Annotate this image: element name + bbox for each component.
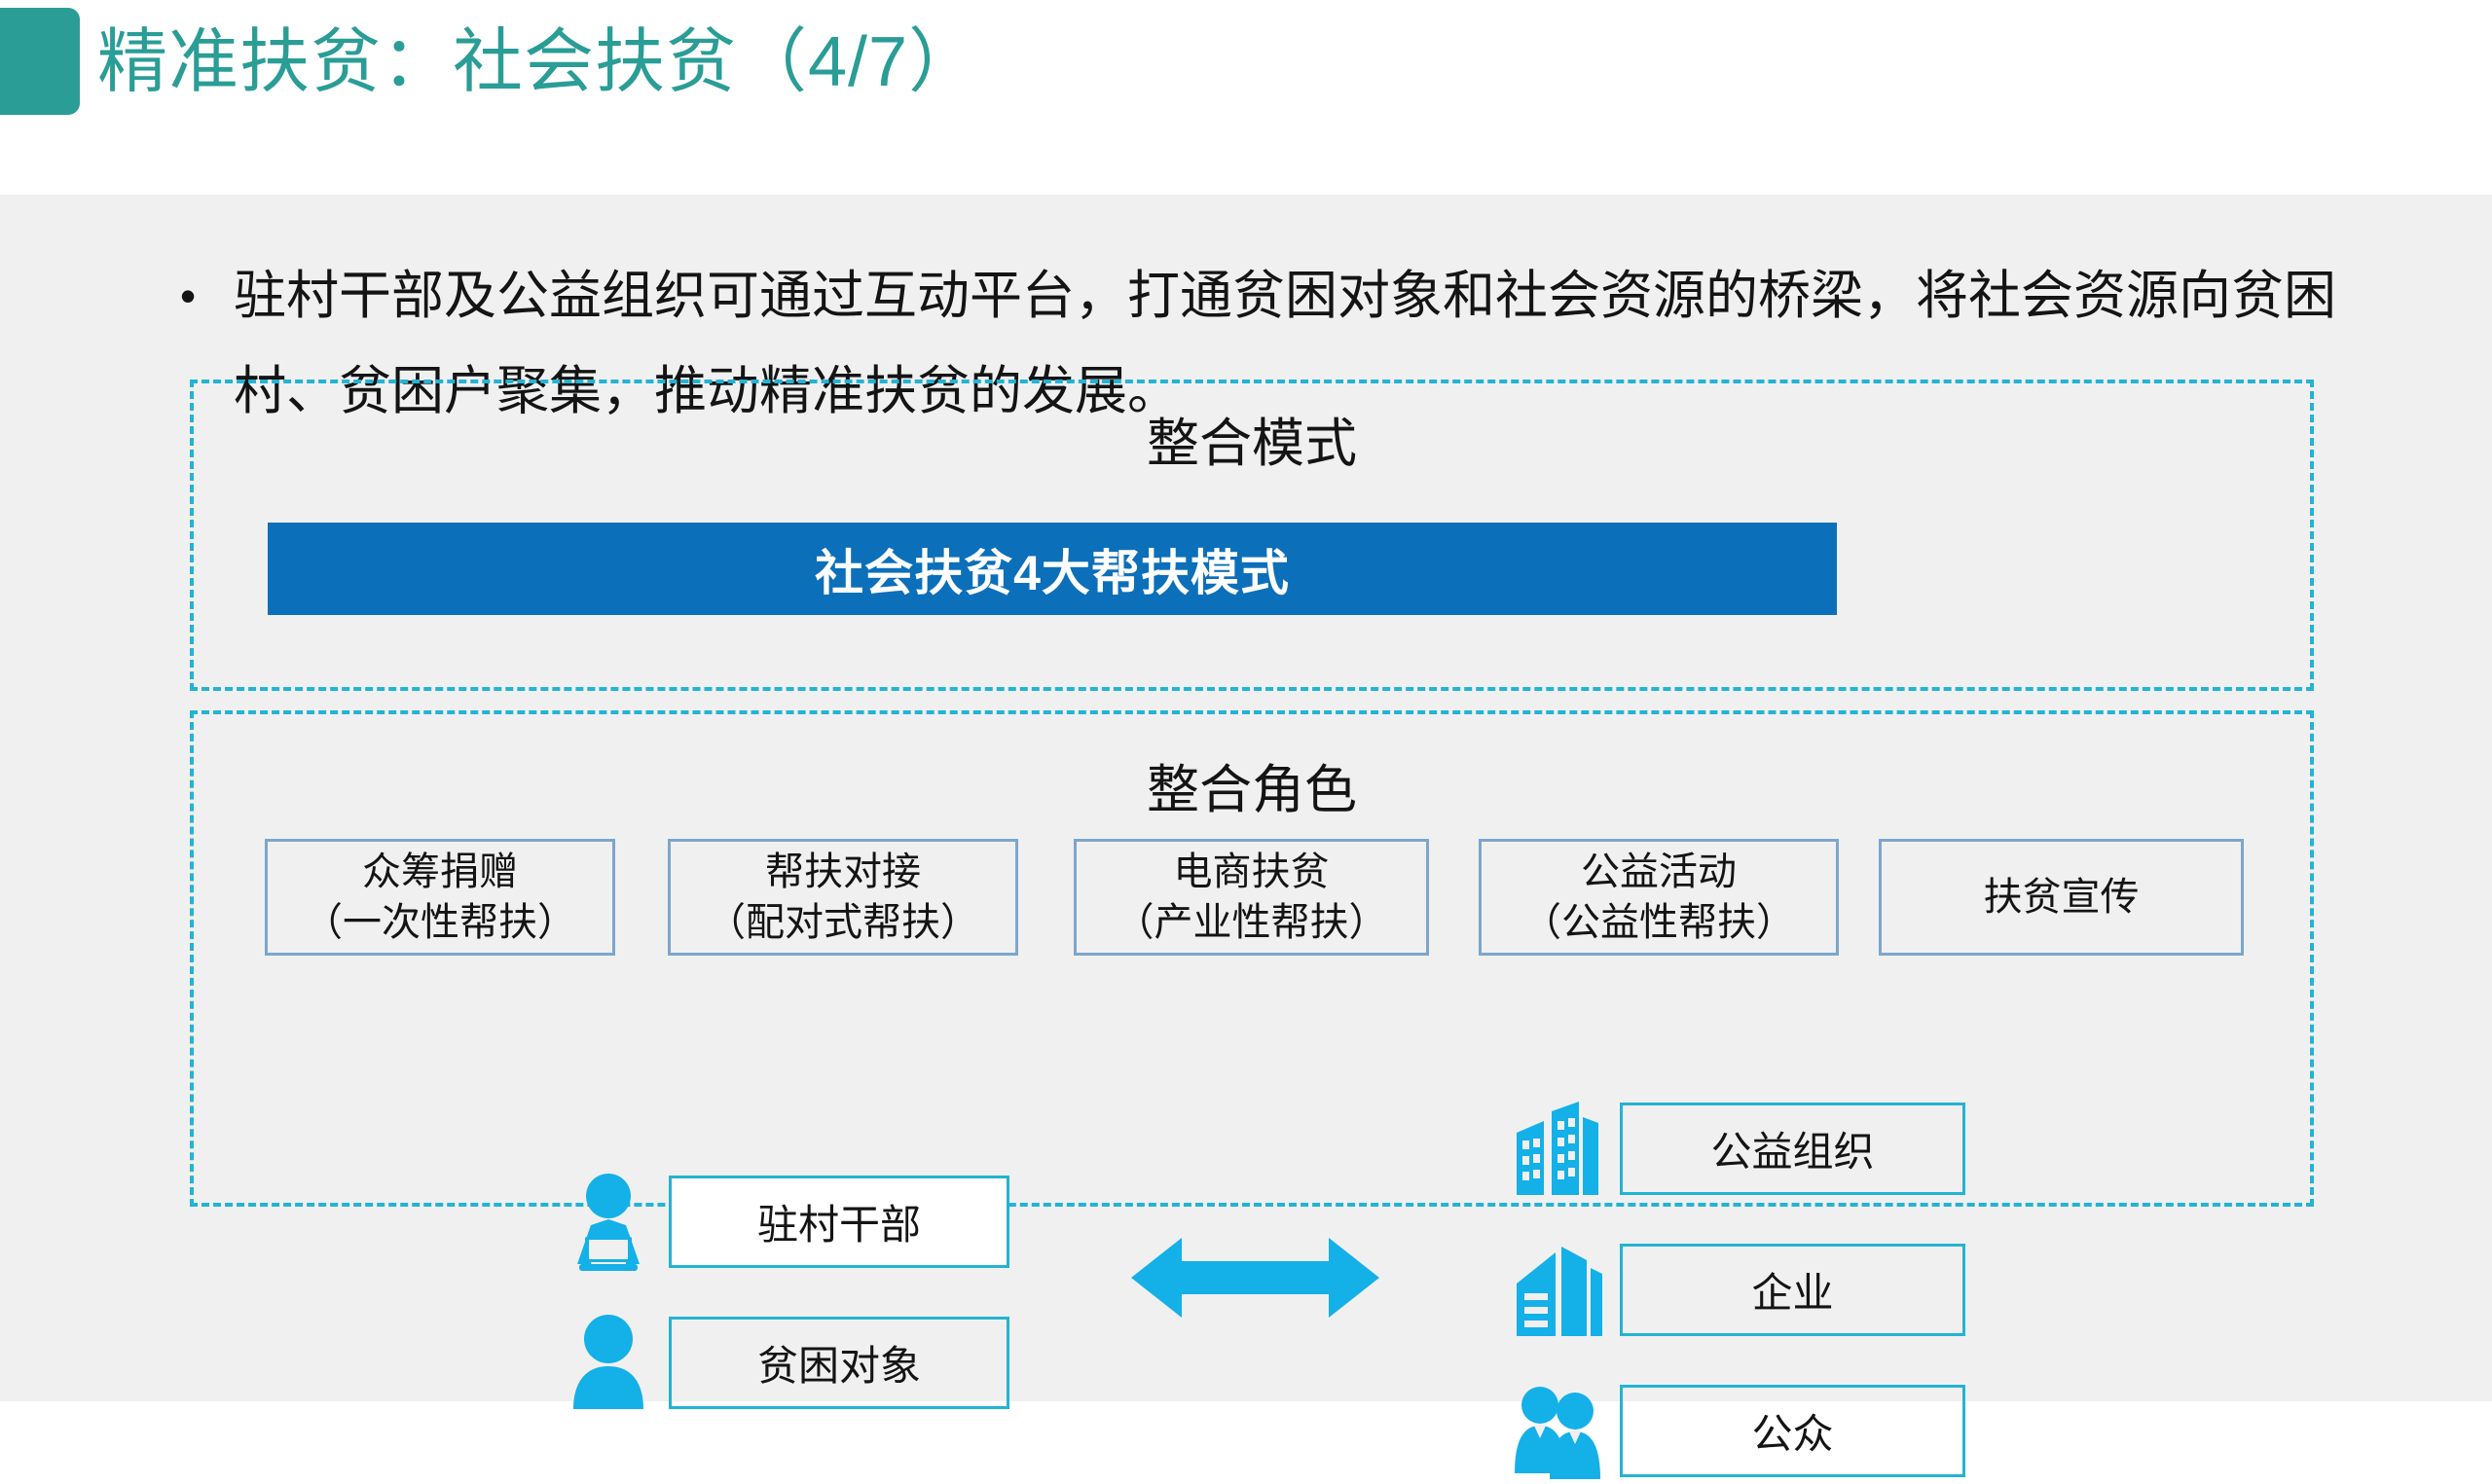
two-people-icon (1509, 1377, 1606, 1484)
slide-header: 精准扶贫：社会扶贫（4/7） (0, 0, 2492, 195)
role-row[interactable]: 驻村干部 (560, 1168, 1009, 1275)
bullet-marker: • (180, 248, 196, 344)
person-with-laptop-icon (560, 1168, 657, 1275)
role-label-box[interactable]: 贫困对象 (669, 1317, 1009, 1409)
role-label: 贫困对象 (757, 1333, 921, 1393)
role-label: 公众 (1751, 1401, 1833, 1461)
role-label-box[interactable]: 驻村干部 (669, 1176, 1009, 1268)
role-row[interactable]: 公众 (1509, 1377, 1965, 1484)
modes-panel-heading: 整合模式 (194, 415, 2310, 473)
roles-panel: 整合角色 (190, 710, 2314, 1207)
roles-panel-heading: 整合角色 (194, 761, 2310, 819)
role-label: 企业 (1751, 1260, 1833, 1320)
person-icon (560, 1309, 657, 1416)
double-headed-arrow-icon (1131, 1234, 1379, 1321)
role-label-box[interactable]: 公益组织 (1620, 1103, 1965, 1195)
role-row[interactable]: 公益组织 (1509, 1095, 1965, 1202)
role-row[interactable]: 贫困对象 (560, 1309, 1009, 1416)
role-label: 驻村干部 (757, 1192, 921, 1251)
buildings-icon (1509, 1095, 1606, 1202)
modes-banner: 社会扶贫4大帮扶模式 (268, 523, 1837, 615)
role-row[interactable]: 企业 (1509, 1236, 1965, 1343)
title-accent-bar (0, 8, 80, 115)
role-label: 公益组织 (1710, 1119, 1874, 1178)
role-label-box[interactable]: 企业 (1620, 1244, 1965, 1336)
page-title: 精准扶贫：社会扶贫（4/7） (97, 14, 979, 111)
role-label-box[interactable]: 公众 (1620, 1385, 1965, 1477)
office-building-icon (1509, 1236, 1606, 1343)
slide-body: • 驻村干部及公益组织可通过互动平台，打通贫困对象和社会资源的桥梁，将社会资源向… (0, 195, 2492, 1401)
